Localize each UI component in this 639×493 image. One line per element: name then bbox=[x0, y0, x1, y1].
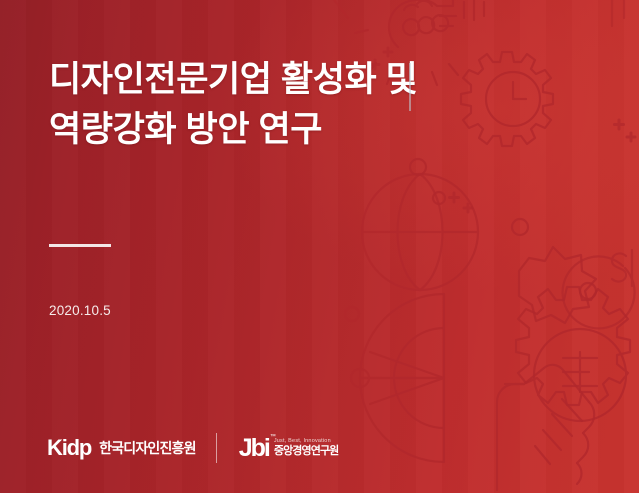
jbi-tagline: Just, Best, Innovation bbox=[274, 439, 339, 445]
jbi-mark-text: Jbi bbox=[239, 434, 269, 462]
trademark-icon: ™ bbox=[270, 434, 276, 440]
title-line-1: 디자인전문기업 활성화 및 bbox=[49, 55, 569, 105]
jbi-text-block: Just, Best, Innovation 중앙경영연구원 bbox=[274, 439, 339, 458]
kidp-wordmark-icon: Kidp bbox=[47, 437, 91, 459]
kidp-organization-name: 한국디자인진흥원 bbox=[99, 441, 196, 455]
title-line-2: 역량강화 방안 연구 bbox=[49, 105, 569, 155]
jbi-wordmark-icon: Jbi ™ bbox=[239, 436, 269, 461]
title-divider-rule bbox=[49, 244, 111, 247]
kidp-logo: Kidp 한국디자인진흥원 bbox=[47, 437, 196, 459]
text-caret bbox=[409, 63, 411, 111]
page-title: 디자인전문기업 활성화 및 역량강화 방안 연구 bbox=[49, 55, 569, 155]
footer-logo-bar: Kidp 한국디자인진흥원 Jbi ™ Just, Best, Innovati… bbox=[47, 431, 338, 465]
slide-date: 2020.10.5 bbox=[49, 303, 111, 318]
jbi-organization-name: 중앙경영연구원 bbox=[274, 446, 339, 457]
presentation-cover-slide: 디자인전문기업 활성화 및 역량강화 방안 연구 2020.10.5 Kidp … bbox=[0, 0, 639, 493]
slide-content: 디자인전문기업 활성화 및 역량강화 방안 연구 2020.10.5 Kidp … bbox=[0, 0, 639, 493]
logo-divider bbox=[216, 433, 217, 463]
jbi-logo: Jbi ™ Just, Best, Innovation 중앙경영연구원 bbox=[239, 436, 339, 461]
